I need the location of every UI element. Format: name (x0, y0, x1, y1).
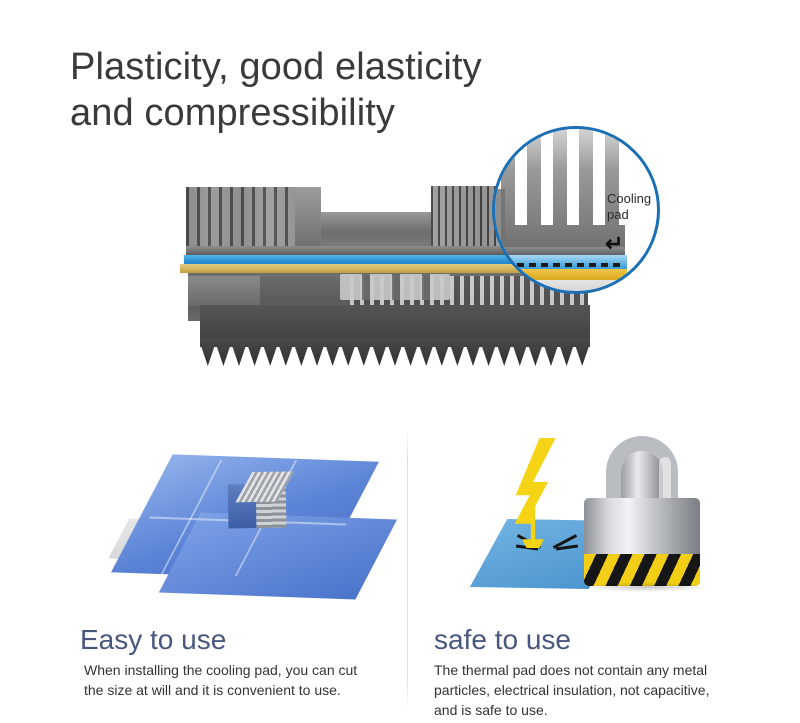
callout-pcb (495, 269, 627, 280)
padlock-lightning-art (420, 428, 780, 613)
heatsink-middle-block (321, 212, 431, 249)
headline-line-1: Plasticity, good elasticity (70, 46, 482, 88)
panel-body-easy-to-use: When installing the cooling pad, you can… (84, 660, 384, 700)
lower-heatsink-teeth (200, 338, 590, 366)
board-capacitors (340, 274, 450, 300)
heatsink-left-end-cap (295, 187, 321, 249)
callout-label-line-1: Cooling (607, 191, 651, 206)
heatsink-left-fins (186, 187, 321, 249)
callout-label: Cooling pad (607, 191, 660, 223)
padlock-icon (578, 436, 706, 588)
panel-divider (407, 428, 408, 710)
magnifier-callout: Cooling pad ↵ (492, 126, 660, 294)
product-feature-page: Plasticity, good elasticity and compress… (0, 0, 800, 723)
panel-body-line-3: and is safe to use. (434, 700, 752, 720)
panel-heading-safe-to-use: safe to use (434, 624, 571, 656)
panel-body-safe-to-use: The thermal pad does not contain any met… (434, 660, 752, 720)
callout-label-line-2: pad (607, 207, 629, 222)
panel-body-line-2: the size at will and it is convenient to… (84, 680, 384, 700)
callout-arrow-icon: ↵ (605, 233, 623, 255)
panel-body-line-2: particles, electrical insulation, not ca… (434, 680, 752, 700)
callout-pad-texture (505, 263, 625, 267)
thermal-pad-sheets-art (40, 428, 400, 613)
small-heatsink (228, 471, 287, 528)
panel-heading-easy-to-use: Easy to use (80, 624, 226, 656)
panel-body-line-1: When installing the cooling pad, you can… (84, 660, 384, 680)
feature-panel-easy-to-use: Easy to use When installing the cooling … (40, 428, 400, 718)
page-title: Plasticity, good elasticity and compress… (70, 44, 670, 136)
padlock-shadow (582, 582, 710, 592)
feature-panel-safe-to-use: safe to use The thermal pad does not con… (420, 428, 780, 718)
panel-body-line-1: The thermal pad does not contain any met… (434, 660, 752, 680)
board-connector-block (188, 276, 260, 306)
